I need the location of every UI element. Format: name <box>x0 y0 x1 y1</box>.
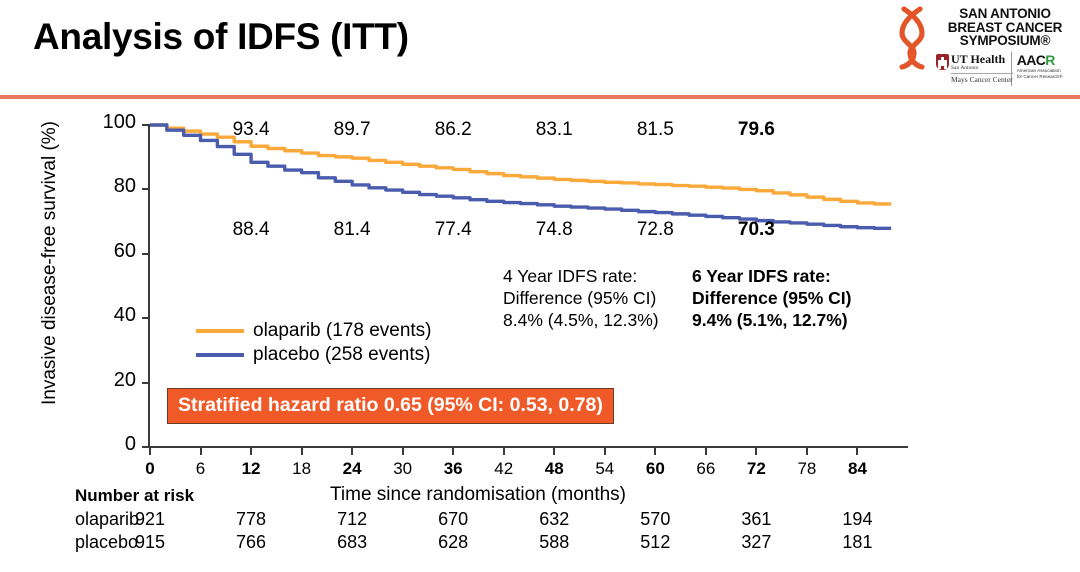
shield-icon <box>936 54 949 70</box>
risk-value-olaparib-12mo: 778 <box>221 509 281 530</box>
olaparib-label-72mo: 79.6 <box>719 119 793 141</box>
logo-line-3: SYMPOSIUM® <box>935 34 1075 48</box>
legend-swatch <box>196 329 244 333</box>
placebo-label-72mo: 70.3 <box>719 219 793 241</box>
risk-value-placebo-48mo: 588 <box>524 532 584 553</box>
risk-value-olaparib-24mo: 712 <box>322 509 382 530</box>
placebo-label-48mo: 74.8 <box>517 219 591 241</box>
risk-value-olaparib-48mo: 632 <box>524 509 584 530</box>
annotation-6-year: 6 Year IDFS rate: Difference (95% CI) 9.… <box>692 265 852 331</box>
aacr-sub-1: American Association <box>1017 68 1061 73</box>
logo-partners: UT Health San Antonio Mays Cancer Center… <box>935 52 1076 86</box>
olaparib-label-36mo: 86.2 <box>416 119 490 141</box>
placebo-label-24mo: 81.4 <box>315 219 389 241</box>
legend-item-olaparib: olaparib (178 events) <box>196 319 432 343</box>
placebo-label-36mo: 77.4 <box>416 219 490 241</box>
ut-health-city: San Antonio <box>951 65 978 71</box>
olaparib-label-12mo: 93.4 <box>214 119 288 141</box>
risk-value-placebo-24mo: 683 <box>322 532 382 553</box>
ut-health-logo: UT Health San Antonio Mays Cancer Center <box>935 52 1012 86</box>
slide-header: Analysis of IDFS (ITT) SAN ANTONIO BREAS… <box>0 0 1080 97</box>
page-title: Analysis of IDFS (ITT) <box>33 16 409 58</box>
olaparib-label-48mo: 83.1 <box>517 119 591 141</box>
aacr-sub-2: for Cancer Research® <box>1017 74 1063 79</box>
legend-item-placebo: placebo (258 events) <box>196 343 432 367</box>
legend-swatch <box>196 353 244 357</box>
placebo-label-12mo: 88.4 <box>214 219 288 241</box>
risk-value-olaparib-60mo: 570 <box>625 509 685 530</box>
ut-health-center: Mays Cancer Center <box>951 73 1013 84</box>
risk-value-olaparib-0mo: 921 <box>120 509 180 530</box>
risk-value-olaparib-84mo: 194 <box>827 509 887 530</box>
sabcs-ribbon-icon <box>893 6 933 70</box>
chart-legend: olaparib (178 events)placebo (258 events… <box>196 319 432 367</box>
annot-4y-line1: 4 Year IDFS rate: <box>503 265 659 287</box>
risk-table-title: Number at risk <box>75 486 194 506</box>
risk-value-placebo-12mo: 766 <box>221 532 281 553</box>
logo-line-2: BREAST CANCER <box>935 21 1075 35</box>
hazard-ratio-banner: Stratified hazard ratio 0.65 (95% CI: 0.… <box>167 388 614 424</box>
olaparib-label-24mo: 89.7 <box>315 119 389 141</box>
legend-label: olaparib (178 events) <box>253 320 432 342</box>
annot-6y-line3: 9.4% (5.1%, 12.7%) <box>692 309 852 331</box>
olaparib-label-60mo: 81.5 <box>618 119 692 141</box>
aacr-logo: AACR American Association for Cancer Res… <box>1012 52 1076 86</box>
annot-6y-line1: 6 Year IDFS rate: <box>692 265 852 287</box>
annot-6y-line2: Difference (95% CI) <box>692 287 852 309</box>
placebo-label-60mo: 72.8 <box>618 219 692 241</box>
risk-value-placebo-60mo: 512 <box>625 532 685 553</box>
annot-4y-line3: 8.4% (4.5%, 12.3%) <box>503 309 659 331</box>
risk-value-placebo-0mo: 915 <box>120 532 180 553</box>
aacr-wordmark: AACR <box>1017 52 1055 68</box>
logo-line-1: SAN ANTONIO <box>935 7 1075 21</box>
risk-value-placebo-72mo: 327 <box>726 532 786 553</box>
risk-value-placebo-84mo: 181 <box>827 532 887 553</box>
legend-label: placebo (258 events) <box>253 344 430 366</box>
number-at-risk-table: Number at risk olaparib92177871267063257… <box>0 483 1080 572</box>
risk-value-placebo-36mo: 628 <box>423 532 483 553</box>
logo-wordmark: SAN ANTONIO BREAST CANCER SYMPOSIUM® <box>935 7 1075 48</box>
sabcs-logo: SAN ANTONIO BREAST CANCER SYMPOSIUM® UT … <box>893 4 1076 86</box>
hazard-ratio-text: Stratified hazard ratio 0.65 (95% CI: 0.… <box>178 394 603 417</box>
risk-value-olaparib-72mo: 361 <box>726 509 786 530</box>
risk-value-olaparib-36mo: 670 <box>423 509 483 530</box>
annot-4y-line2: Difference (95% CI) <box>503 287 659 309</box>
annotation-4-year: 4 Year IDFS rate: Difference (95% CI) 8.… <box>503 265 659 331</box>
